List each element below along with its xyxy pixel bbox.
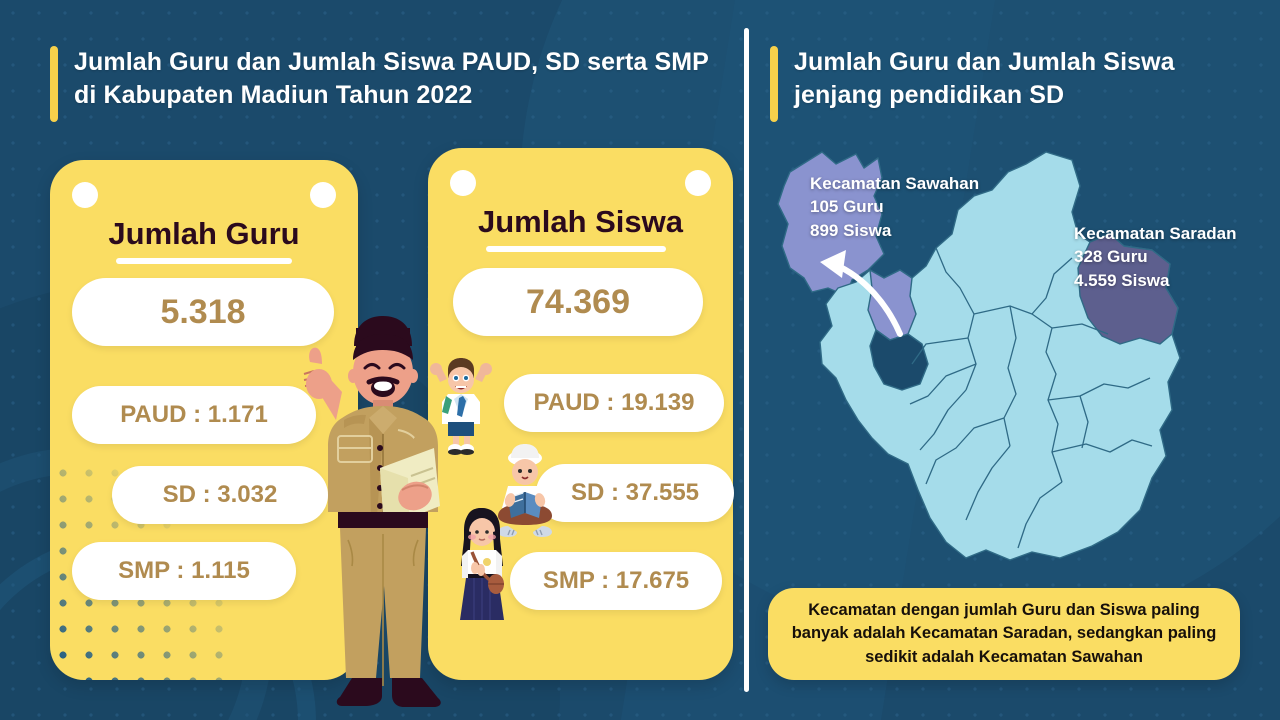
card-guru-underline (116, 258, 292, 264)
page-title-right: Jumlah Guru dan Jumlah Siswa jenjang pen… (770, 46, 1240, 122)
infographic-canvas: Jumlah Guru dan Jumlah Siswa PAUD, SD se… (0, 0, 1280, 720)
map-label-sawahan: Kecamatan Sawahan 105 Guru 899 Siswa (810, 172, 979, 242)
map-region-sawahan (868, 270, 916, 340)
card-hole-left-icon (450, 170, 476, 196)
card-hole-left-icon (72, 182, 98, 208)
map-label-saradan-name: Kecamatan Saradan (1074, 222, 1237, 245)
summary-note-text: Kecamatan dengan jumlah Guru dan Siswa p… (768, 599, 1240, 669)
title-accent-bar-left (50, 46, 58, 122)
page-title-left: Jumlah Guru dan Jumlah Siswa PAUD, SD se… (50, 46, 710, 122)
card-siswa-heading: Jumlah Siswa (428, 204, 733, 240)
map-label-saradan: Kecamatan Saradan 328 Guru 4.559 Siswa (1074, 222, 1237, 292)
card-siswa-row-paud: PAUD : 19.139 (504, 374, 724, 432)
map-label-saradan-guru: 328 Guru (1074, 245, 1237, 268)
section-divider (744, 28, 749, 692)
summary-note-box: Kecamatan dengan jumlah Guru dan Siswa p… (768, 588, 1240, 680)
card-siswa-total-value: 74.369 (453, 268, 703, 336)
card-hole-right-icon (685, 170, 711, 196)
map-label-sawahan-siswa: 899 Siswa (810, 219, 979, 242)
student-girl-illustration (444, 506, 520, 624)
title-accent-bar-right (770, 46, 778, 122)
map-label-saradan-siswa: 4.559 Siswa (1074, 269, 1237, 292)
map-label-sawahan-guru: 105 Guru (810, 195, 979, 218)
card-hole-right-icon (310, 182, 336, 208)
map-label-sawahan-name: Kecamatan Sawahan (810, 172, 979, 195)
card-guru-heading: Jumlah Guru (50, 216, 358, 252)
title-right-text: Jumlah Guru dan Jumlah Siswa jenjang pen… (794, 46, 1240, 122)
title-left-text: Jumlah Guru dan Jumlah Siswa PAUD, SD se… (74, 46, 710, 122)
card-siswa-underline (486, 246, 666, 252)
card-guru-row-smp: SMP : 1.115 (72, 542, 296, 600)
card-siswa-row-smp: SMP : 17.675 (510, 552, 722, 610)
student-boy-cheering-illustration (426, 356, 496, 456)
